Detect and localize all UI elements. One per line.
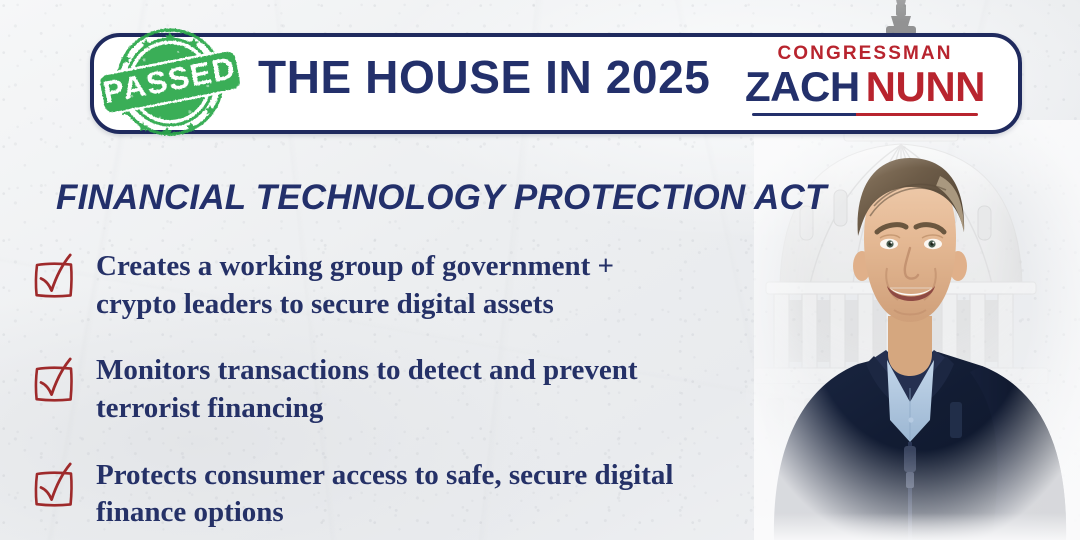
logo-underline-rule — [752, 113, 978, 116]
logo-name-row: ZACH — [752, 66, 978, 108]
bullet-text: Monitors transactions to detect and prev… — [96, 352, 676, 427]
headline-text: THE HOUSE IN 2025 — [258, 50, 710, 104]
passed-stamp-icon: PASSED — [86, 26, 254, 139]
checkbox-checked-icon — [30, 461, 78, 511]
bullet-item: Monitors transactions to detect and prev… — [30, 352, 690, 427]
checkbox-checked-icon — [30, 356, 78, 406]
checkbox-checked-icon — [30, 252, 78, 302]
act-title: FINANCIAL TECHNOLOGY PROTECTION ACT — [56, 178, 827, 218]
bullet-text: Protects consumer access to safe, secure… — [96, 457, 676, 532]
congressman-logo[interactable]: CONGRESSMAN ZACH — [752, 44, 978, 124]
logo-first-name: ZACH — [745, 66, 860, 108]
feature-bullet-list: Creates a working group of government + … — [30, 248, 690, 532]
campaign-graphic: THE HOUSE IN 2025 CONGRESSMAN ZACH — [0, 0, 1080, 540]
bullet-item: Protects consumer access to safe, secure… — [30, 457, 690, 532]
bullet-item: Creates a working group of government + … — [30, 248, 690, 323]
logo-last-name: NUNN — [866, 66, 985, 108]
bullet-text: Creates a working group of government + … — [96, 248, 676, 323]
logo-superline: CONGRESSMAN — [752, 44, 978, 63]
